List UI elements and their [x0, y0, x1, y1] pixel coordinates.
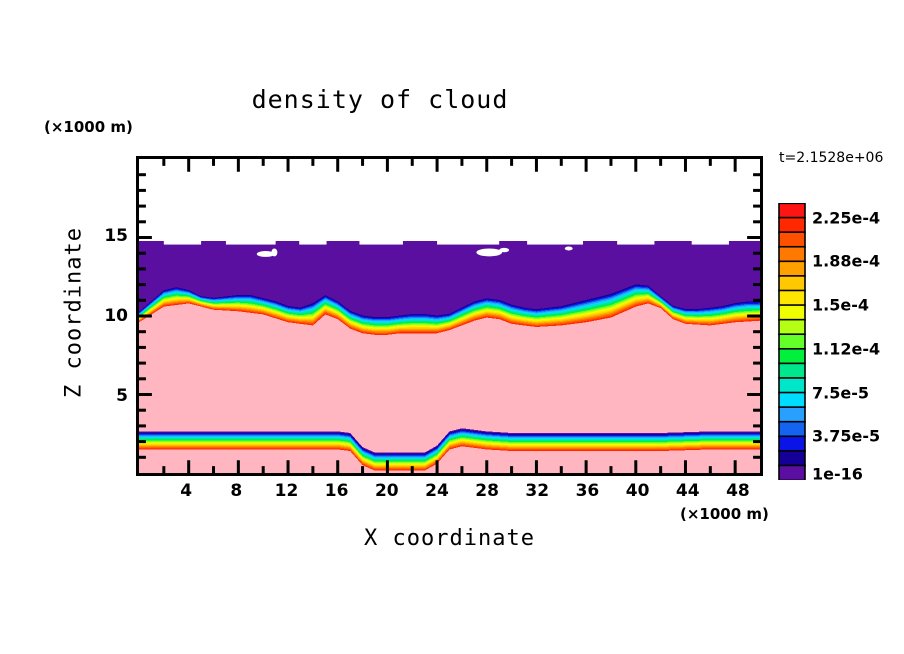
- y-tick-label: 10: [104, 306, 128, 326]
- x-tick-label: 40: [626, 481, 650, 501]
- colorbar-tick-label: 1e-16: [812, 465, 863, 484]
- x-tick-label: 16: [325, 481, 349, 501]
- colorbar-tick-label: 1.5e-4: [812, 296, 869, 315]
- x-tick-label: 4: [180, 481, 192, 501]
- x-axis-units-label: (×1000 m): [680, 505, 769, 523]
- y-axis-units-label: (×1000 m): [44, 118, 133, 136]
- colorbar-tick-label: 7.5e-5: [812, 383, 869, 402]
- colorbar-tick-label: 3.75e-5: [812, 427, 880, 446]
- colorbar-tick-label: 1.88e-4: [812, 252, 880, 271]
- colorbar-tick-label: 2.25e-4: [812, 208, 880, 227]
- colorbar-tick-label: 1.12e-4: [812, 339, 880, 358]
- x-tick-label: 24: [425, 481, 449, 501]
- time-stamp-label: t=2.1528e+06: [779, 150, 883, 166]
- plot-area[interactable]: [136, 156, 763, 476]
- x-tick-label: 48: [726, 481, 750, 501]
- x-tick-label: 32: [525, 481, 549, 501]
- y-axis-title: Z coordinate: [62, 213, 87, 413]
- x-tick-label: 12: [275, 481, 299, 501]
- contour-field: [139, 159, 760, 473]
- x-tick-label: 8: [230, 481, 242, 501]
- y-tick-label: 5: [116, 386, 128, 406]
- x-tick-label: 28: [475, 481, 499, 501]
- figure-canvas: density of cloud (×1000 m) t=2.1528e+06 …: [0, 0, 904, 654]
- x-tick-label: 44: [676, 481, 700, 501]
- x-tick-label: 20: [375, 481, 399, 501]
- y-tick-label: 15: [104, 226, 128, 246]
- colorbar-swatches: [778, 203, 806, 480]
- colorbar[interactable]: [778, 203, 806, 480]
- x-axis-title: X coordinate: [136, 526, 763, 551]
- page-title: density of cloud: [0, 85, 760, 114]
- x-tick-label: 36: [576, 481, 600, 501]
